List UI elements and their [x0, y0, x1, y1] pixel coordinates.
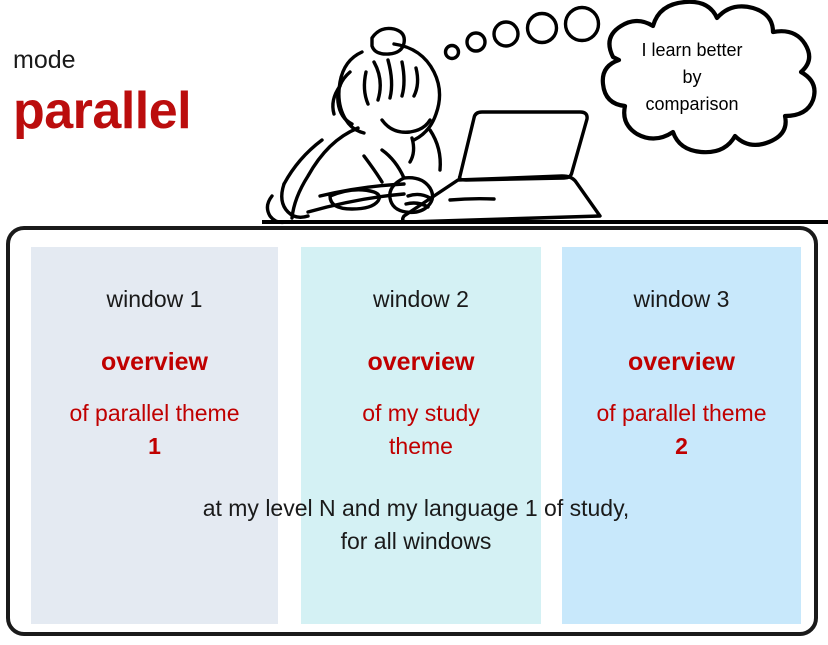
window-1-sub-number: 1 — [0, 430, 312, 463]
window-2-overview-heading: overview — [271, 347, 571, 377]
student-at-laptop-icon: I learn better by comparison — [262, 0, 828, 225]
window-1-overview-heading: overview — [1, 347, 308, 377]
window-panel-1[interactable]: window 1 overview of parallel theme 1 — [31, 247, 278, 624]
window-panel-3[interactable]: window 3 overview of parallel theme 2 — [562, 247, 801, 624]
window-1-title: window 1 — [31, 285, 278, 313]
thought-bubble-line-2: by — [682, 67, 701, 87]
window-3-overview-heading: overview — [532, 347, 828, 377]
window-3-sub-text: of parallel theme — [528, 397, 828, 430]
thought-bubble-line-3: comparison — [645, 94, 738, 114]
window-2-sub-number: theme — [291, 430, 551, 463]
window-1-sub-text: of parallel theme — [0, 397, 312, 430]
window-1-subtitle: of parallel theme 1 — [0, 397, 312, 463]
window-panel-2[interactable]: window 2 overview of my study theme — [301, 247, 541, 624]
window-2-subtitle: of my study theme — [291, 397, 551, 463]
window-2-title: window 2 — [301, 285, 541, 313]
student-illustration: I learn better by comparison — [262, 0, 828, 225]
window-3-subtitle: of parallel theme 2 — [528, 397, 828, 463]
window-3-title: window 3 — [562, 285, 801, 313]
window-2-sub-text: of my study — [291, 397, 551, 430]
header-area: mode parallel — [0, 0, 828, 225]
windows-frame: window 1 overview of parallel theme 1 wi… — [6, 226, 818, 636]
window-3-sub-number: 2 — [528, 430, 828, 463]
thought-dots-icon — [446, 8, 599, 59]
thought-bubble-icon — [603, 2, 815, 152]
page-title: parallel — [13, 80, 191, 142]
thought-bubble-line-1: I learn better — [641, 40, 742, 60]
mode-label: mode — [13, 45, 76, 75]
